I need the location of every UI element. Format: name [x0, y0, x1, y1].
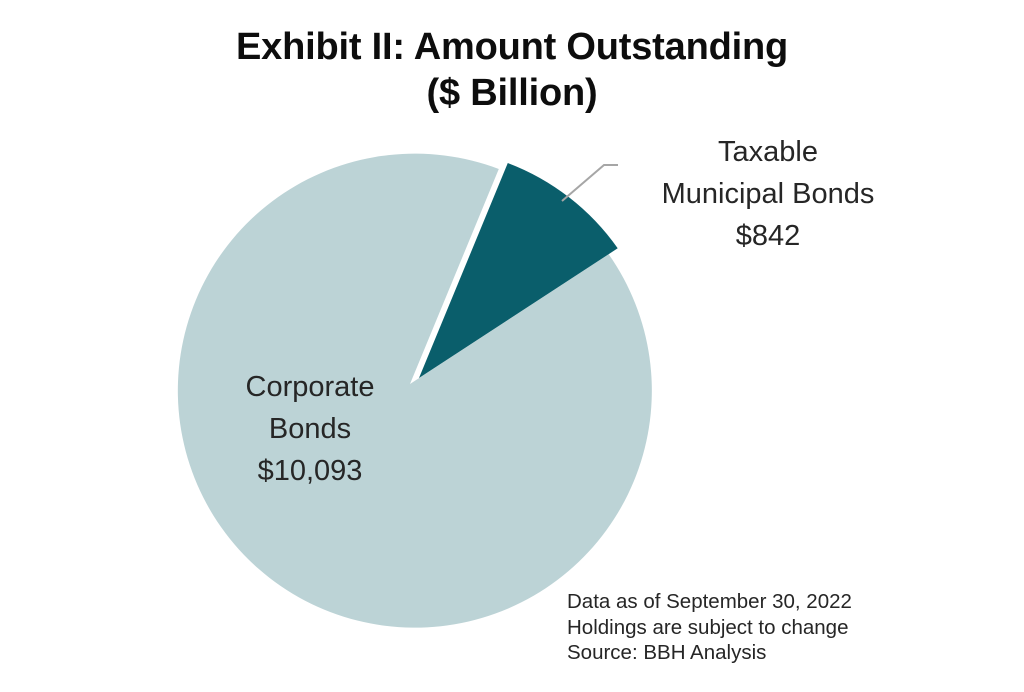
chart-footnote: Data as of September 30, 2022 Holdings a…: [567, 589, 852, 666]
data-label-corporate-bonds: Corporate Bonds $10,093: [185, 366, 435, 492]
data-label-taxable-municipal-bonds: Taxable Municipal Bonds $842: [608, 131, 928, 257]
pie-chart-figure: Exhibit II: Amount Outstanding ($ Billio…: [0, 0, 1024, 692]
pie-chart-graphic: [0, 0, 1024, 692]
